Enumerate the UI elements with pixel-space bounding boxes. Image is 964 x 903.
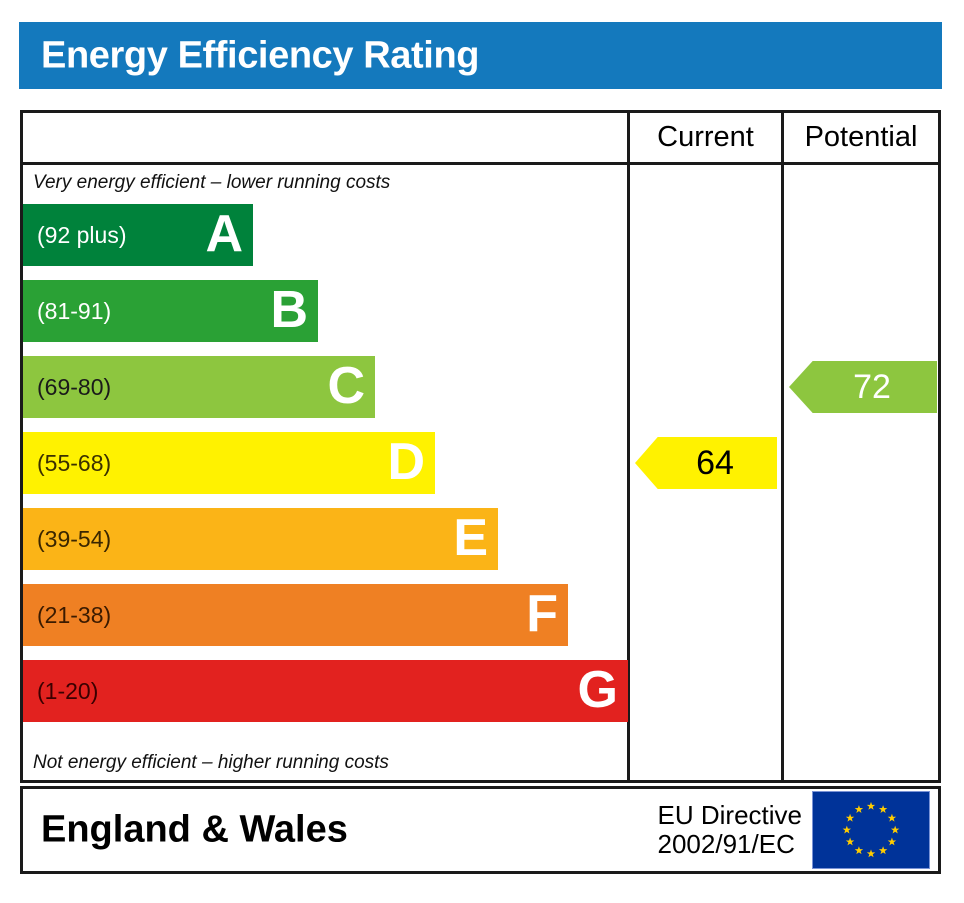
footer-region-label: England & Wales xyxy=(41,809,348,852)
caption-very-efficient: Very energy efficient – lower running co… xyxy=(33,172,623,194)
band-g: (1-20)G xyxy=(23,660,628,722)
band-letter-c: C xyxy=(327,360,365,412)
column-divider-potential xyxy=(781,165,784,780)
band-range-c: (69-80) xyxy=(37,376,111,399)
current-rating-arrow: 64 xyxy=(635,437,777,489)
caption-not-efficient: Not energy efficient – higher running co… xyxy=(33,752,623,774)
footer-directive-label: EU Directive 2002/91/EC xyxy=(658,801,802,859)
band-range-b: (81-91) xyxy=(37,300,111,323)
band-letter-e: E xyxy=(453,512,488,564)
directive-line-2: 2002/91/EC xyxy=(658,830,802,859)
band-f: (21-38)F xyxy=(23,584,568,646)
current-rating-value: 64 xyxy=(696,444,734,483)
band-e: (39-54)E xyxy=(23,508,498,570)
band-range-g: (1-20) xyxy=(37,680,98,703)
column-header-current: Current xyxy=(627,113,781,162)
eu-flag-icon xyxy=(812,791,930,869)
band-letter-a: A xyxy=(205,208,243,260)
chart-footer: England & Wales EU Directive 2002/91/EC xyxy=(20,786,941,874)
potential-rating-arrow: 72 xyxy=(789,361,937,413)
band-range-e: (39-54) xyxy=(37,528,111,551)
band-letter-b: B xyxy=(270,284,308,336)
band-range-f: (21-38) xyxy=(37,604,111,627)
energy-efficiency-rating-chart: Energy Efficiency Rating Current Potenti… xyxy=(0,0,964,903)
potential-rating-value: 72 xyxy=(853,368,891,407)
page-title: Energy Efficiency Rating xyxy=(41,34,479,77)
band-c: (69-80)C xyxy=(23,356,375,418)
bands-area: Very energy efficient – lower running co… xyxy=(23,165,627,780)
rating-table: Current Potential Very energy efficient … xyxy=(20,110,941,783)
column-header-potential: Potential xyxy=(781,113,938,162)
chart-title-bar: Energy Efficiency Rating xyxy=(19,22,942,89)
band-range-a: (92 plus) xyxy=(37,224,126,247)
directive-line-1: EU Directive xyxy=(658,801,802,830)
band-range-d: (55-68) xyxy=(37,452,111,475)
band-b: (81-91)B xyxy=(23,280,318,342)
band-d: (55-68)D xyxy=(23,432,435,494)
band-letter-f: F xyxy=(526,588,558,640)
band-letter-g: G xyxy=(578,664,618,716)
band-letter-d: D xyxy=(387,436,425,488)
table-header-row: Current Potential xyxy=(23,113,938,165)
band-a: (92 plus)A xyxy=(23,204,253,266)
